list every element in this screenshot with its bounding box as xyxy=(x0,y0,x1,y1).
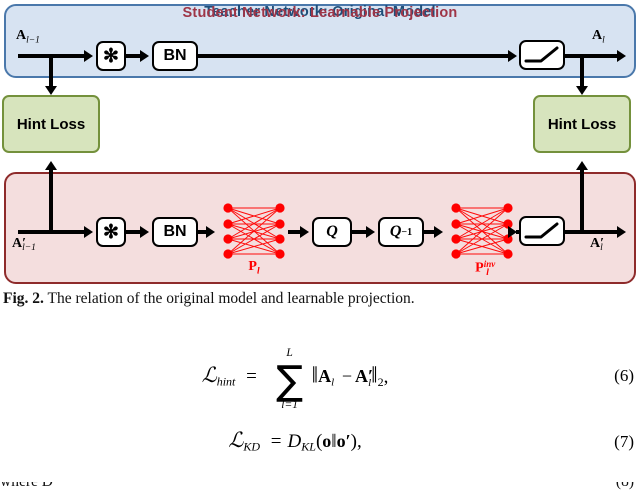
eq6-minus: − xyxy=(342,366,352,386)
hint-loss-box-left: Hint Loss xyxy=(2,95,100,153)
teacher-arrow-to-bn xyxy=(140,50,149,62)
student-tap-left-arrow xyxy=(45,161,57,170)
student-line-qinv-projinv xyxy=(424,230,434,234)
teacher-bn-box: BN xyxy=(152,41,198,71)
figure-caption: Fig. 2. The relation of the original mod… xyxy=(3,290,637,309)
projection-label-p: Pl xyxy=(218,259,290,276)
student-bn-box: BN xyxy=(152,217,198,247)
student-output-label: A′l xyxy=(590,236,603,253)
student-line-out xyxy=(565,230,617,234)
eq6-summation: L ∑ l=1 xyxy=(268,348,312,408)
teacher-tap-right-arrow xyxy=(576,86,588,95)
teacher-line-out xyxy=(565,54,617,58)
equation-7-body: ℒKD =DKL(o‖o′), xyxy=(0,428,590,455)
student-arrow-to-qinv xyxy=(366,226,375,238)
eq6-term-a: Al xyxy=(318,366,334,386)
equation-6-body: ℒhint = L ∑ l=1 ‖Al −A′l‖2, xyxy=(0,348,590,408)
student-arrow-to-act xyxy=(508,226,517,238)
eq7-equals: = xyxy=(271,431,282,452)
teacher-tap-right-line xyxy=(580,54,584,86)
student-quantize-box: Q xyxy=(312,217,352,247)
student-tap-right-arrow xyxy=(576,161,588,170)
student-tap-left-line xyxy=(49,170,53,232)
student-line-conv-bn xyxy=(126,230,140,234)
clipped-body-text: where D (8) xyxy=(0,482,640,500)
eq6-sum-lower: l=1 xyxy=(268,399,312,411)
eq7-trailing: , xyxy=(357,431,362,452)
projection-network-p: Pl xyxy=(218,199,290,261)
teacher-line-conv-bn xyxy=(126,54,140,58)
teacher-input-label: Al−1 xyxy=(16,28,40,45)
projection-label-p-inverse: Pinvl xyxy=(446,259,518,278)
student-tap-right-line xyxy=(580,170,584,232)
eq7-arg-a: o xyxy=(322,431,331,451)
equation-7: ℒKD =DKL(o‖o′), (7) xyxy=(0,428,640,474)
equation-6-number: (6) xyxy=(614,366,634,386)
eq7-lhs: ℒKD xyxy=(228,428,260,452)
equation-7-number: (7) xyxy=(614,432,634,452)
eq6-equals: = xyxy=(246,366,257,387)
eq6-sigma-glyph: ∑ xyxy=(268,361,312,401)
teacher-arrow-to-conv xyxy=(84,50,93,62)
student-arrow-to-proj xyxy=(206,226,215,238)
caption-figure-number: Fig. 2. xyxy=(3,290,44,307)
teacher-tap-left-arrow xyxy=(45,86,57,95)
teacher-output-label: Al xyxy=(592,28,605,45)
hint-loss-box-right: Hint Loss xyxy=(533,95,631,153)
teacher-arrow-out xyxy=(617,50,626,62)
student-arrow-to-projinv xyxy=(434,226,443,238)
student-arrow-to-bn xyxy=(140,226,149,238)
relu-icon xyxy=(521,218,563,244)
student-arrow-out xyxy=(617,226,626,238)
eq6-term-b: A′l xyxy=(355,366,371,386)
student-input-label: A′l−1 xyxy=(12,236,36,253)
teacher-activation-box xyxy=(519,40,565,70)
eq6-trailing: , xyxy=(384,366,389,387)
teacher-line-bn-act xyxy=(198,54,512,58)
eq7-arg-b: o′ xyxy=(337,431,351,451)
student-arrow-to-conv xyxy=(84,226,93,238)
clipped-body-text-inner: where D xyxy=(0,482,640,491)
figure-diagram: Teacher Network: Original Model ✻ BN Al−… xyxy=(0,0,640,288)
student-arrow-to-q xyxy=(300,226,309,238)
eq7-dkl: DKL xyxy=(288,431,316,452)
caption-text: The relation of the original model and l… xyxy=(44,290,415,307)
teacher-tap-left-line xyxy=(49,54,53,86)
clipped-equation-number: (8) xyxy=(616,482,634,491)
relu-icon xyxy=(521,42,563,68)
student-line-in xyxy=(18,230,84,234)
teacher-arrow-to-act xyxy=(508,50,517,62)
student-network-title: Student Network: Learnable Projection xyxy=(0,5,640,21)
equation-6: ℒhint = L ∑ l=1 ‖Al −A′l‖2, (6) xyxy=(0,342,640,412)
student-line-proj-q xyxy=(288,230,300,234)
eq6-lhs: ℒhint xyxy=(202,363,236,387)
student-line-q-qinv xyxy=(352,230,366,234)
student-conv-box: ✻ xyxy=(96,217,126,247)
student-activation-box xyxy=(519,216,565,246)
student-line-bn-proj xyxy=(198,230,206,234)
teacher-conv-box: ✻ xyxy=(96,41,126,71)
student-dequantize-box: Q−1 xyxy=(378,217,424,247)
